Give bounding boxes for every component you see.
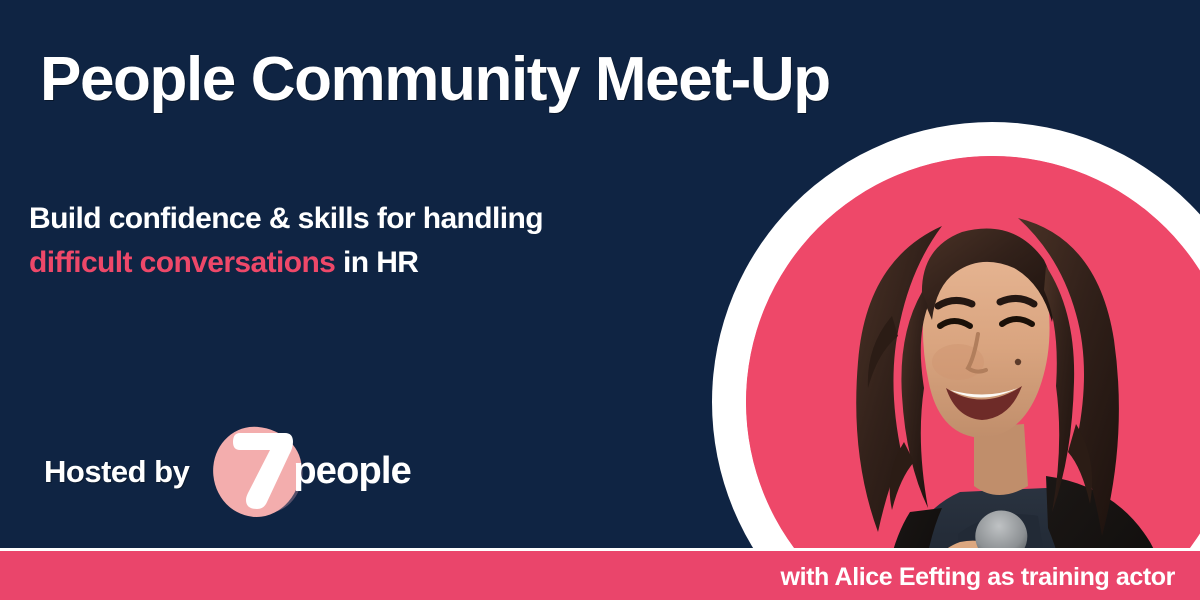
speaker-portrait-illustration <box>746 156 1200 600</box>
banner-text: with Alice Eefting as training actor <box>781 563 1175 592</box>
subtitle-line-2-rest: in HR <box>335 246 418 279</box>
hosted-by-row: Hosted by people <box>44 424 411 520</box>
subtitle-line-2: difficult conversations in HR <box>29 241 543 285</box>
sevenpeople-logo[interactable]: people <box>211 422 411 522</box>
event-poster: People Community Meet-Up Build confidenc… <box>0 0 1200 600</box>
logo-wordmark: people <box>293 450 411 493</box>
speaker-photo-ring <box>712 122 1200 600</box>
subtitle-line-1: Build confidence & skills for handling <box>29 197 543 241</box>
subtitle-block: Build confidence & skills for handling d… <box>29 197 543 285</box>
hosted-by-label: Hosted by <box>44 454 189 490</box>
page-title: People Community Meet-Up <box>40 44 830 115</box>
logo-seven-numeral-icon <box>233 430 295 512</box>
subtitle-accent-text: difficult conversations <box>29 246 335 279</box>
speaker-photo <box>746 156 1200 600</box>
